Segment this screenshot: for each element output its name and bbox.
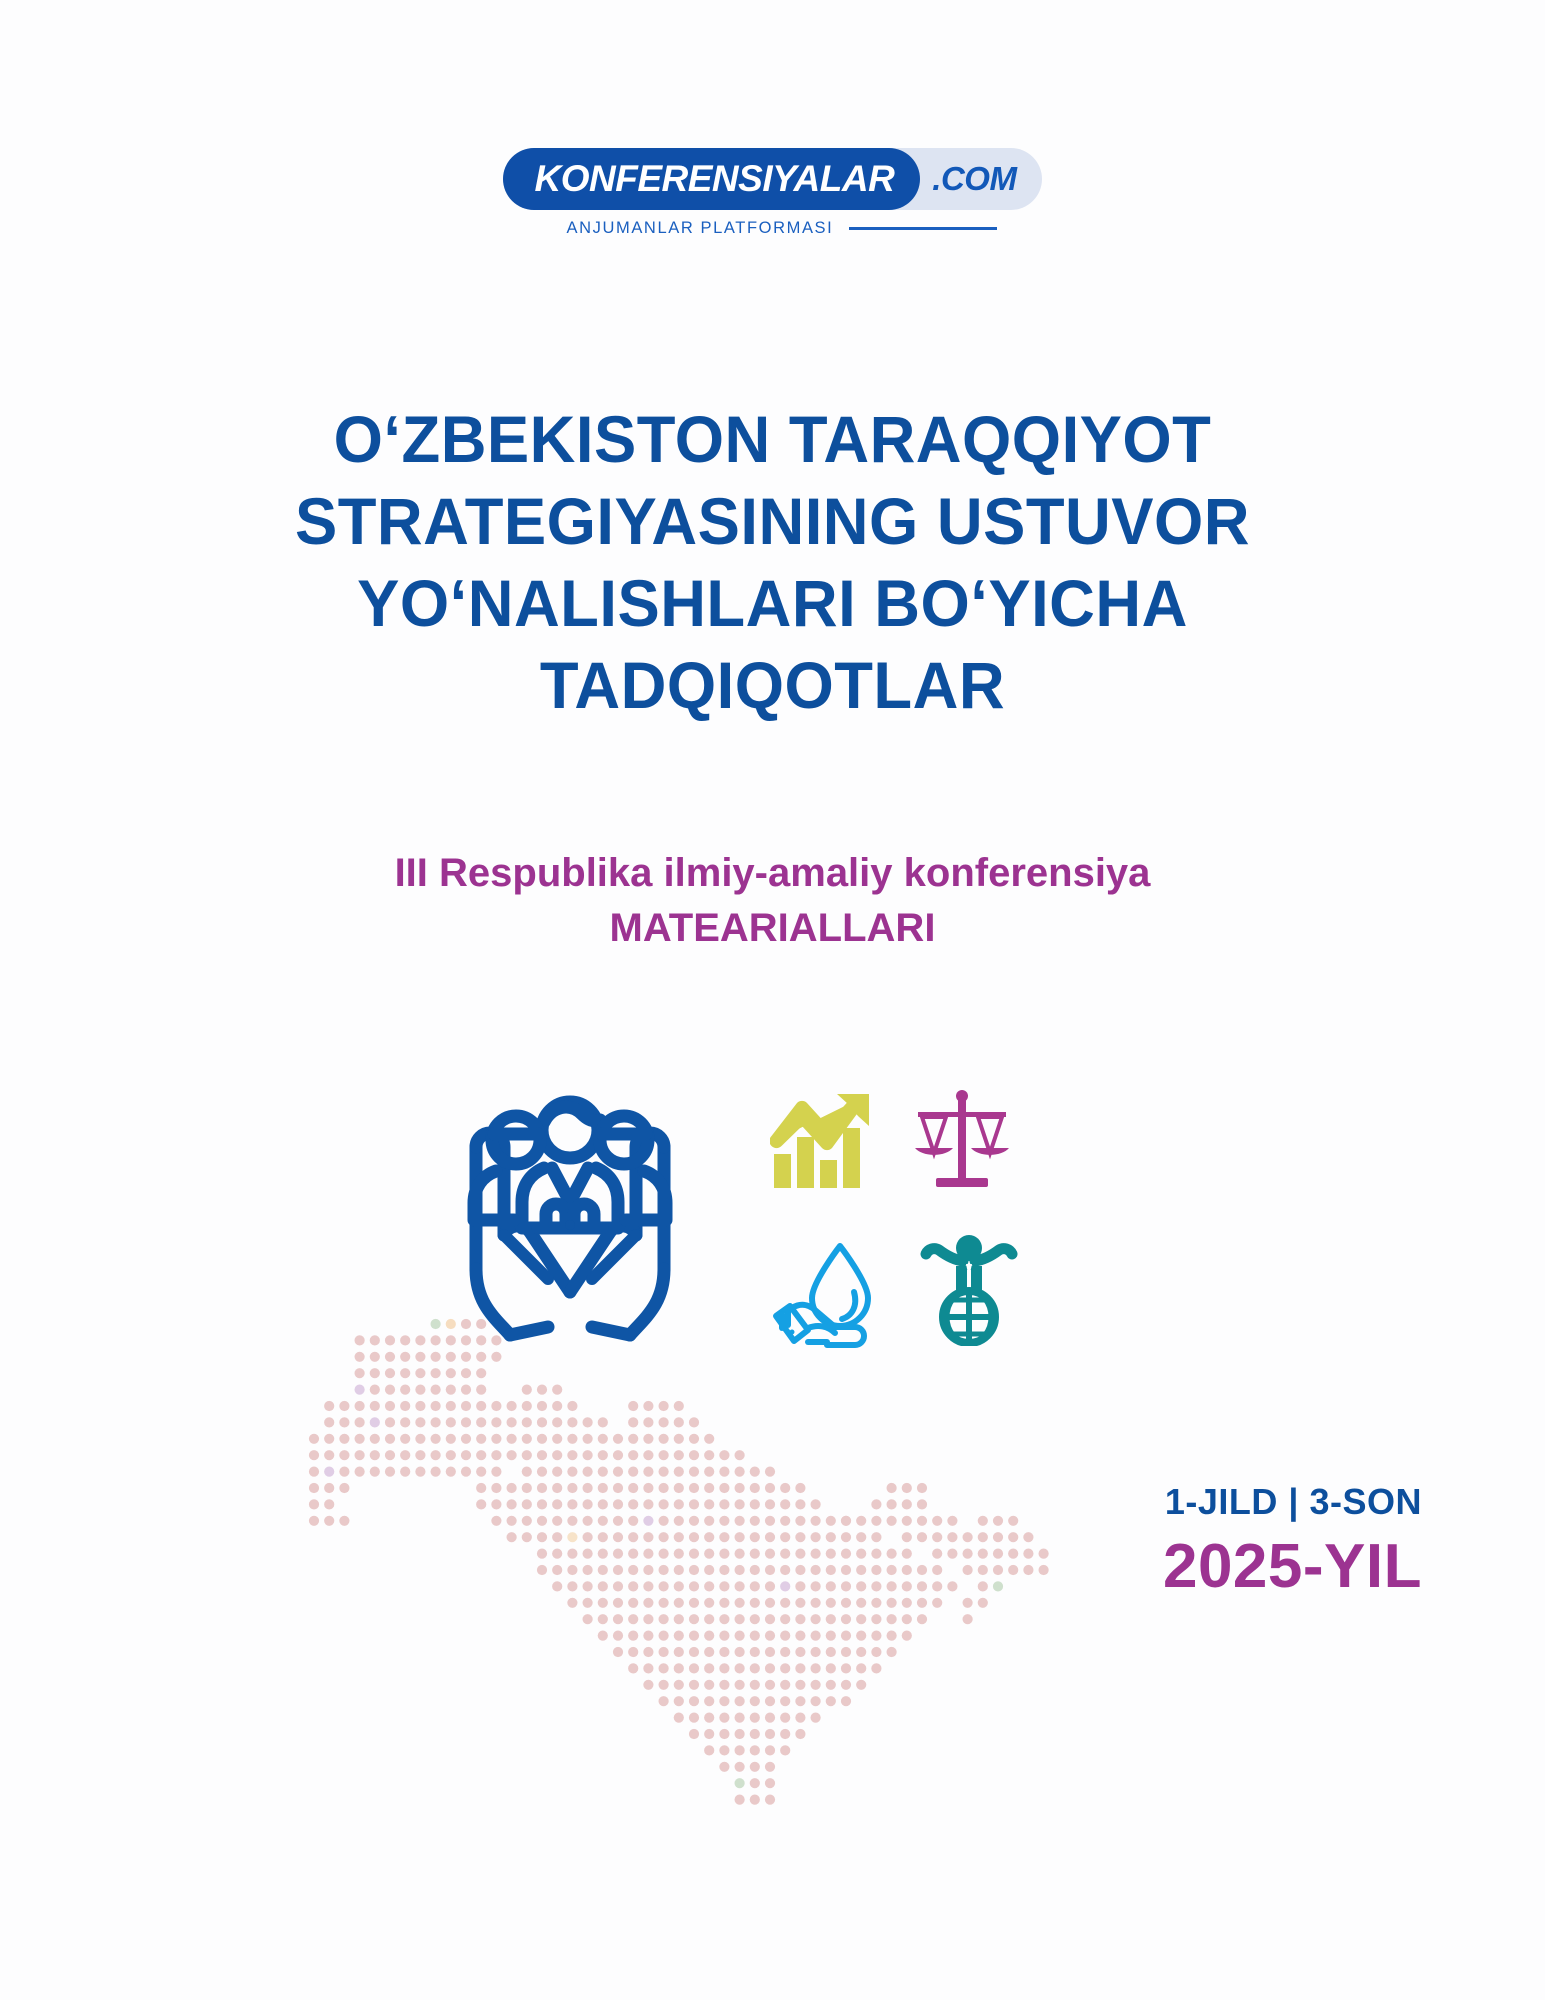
subtitle-line-2: MATEARIALLARI [110,901,1435,956]
growth-chart-arrow-icon [770,1092,876,1190]
issue-meta: 1-JILD | 3-SON 2025-YIL [1163,1479,1422,1605]
person-on-globe-icon [918,1234,1020,1346]
uzbekistan-dotted-map [230,1318,1050,1878]
title-line-4: TADQIQOTLAR [137,644,1409,726]
icon-cluster [440,1062,1060,1382]
cover-page: KONFERENSIYALAR .COM ANJUMANLAR PLATFORM… [0,0,1545,2000]
title-line-2: STRATEGIYASINING USTUVOR [137,480,1409,562]
title-line-1: O‘ZBEKISTON TARAQQIYOT [137,398,1409,480]
volume-issue-label: 1-JILD | 3-SON [1163,1479,1422,1525]
logo-pill-inner: KONFERENSIYALAR [503,148,921,210]
page-title: O‘ZBEKISTON TARAQQIYOT STRATEGIYASINING … [110,398,1435,726]
logo-divider-rule [849,227,996,230]
site-logo: KONFERENSIYALAR .COM ANJUMANLAR PLATFORM… [0,148,1545,238]
logo-tagline-row: ANJUMANLAR PLATFORMASI [553,219,993,238]
logo-main-text: KONFERENSIYALAR [535,158,895,200]
logo-pill: KONFERENSIYALAR .COM [503,148,1043,210]
year-label: 2025-YIL [1163,1529,1422,1605]
justice-scales-icon [910,1090,1014,1192]
logo-tagline: ANJUMANLAR PLATFORMASI [567,219,834,238]
subtitle-line-1: III Respublika ilmiy-amaliy konferensiya [110,846,1435,901]
hands-holding-people-icon [440,1072,700,1342]
page-subtitle: III Respublika ilmiy-amaliy konferensiya… [110,846,1435,956]
logo-domain-text: .COM [932,160,1016,198]
title-line-3: YO‘NALISHLARI BO‘YICHA [137,562,1409,644]
water-drop-in-hand-icon [770,1240,884,1348]
